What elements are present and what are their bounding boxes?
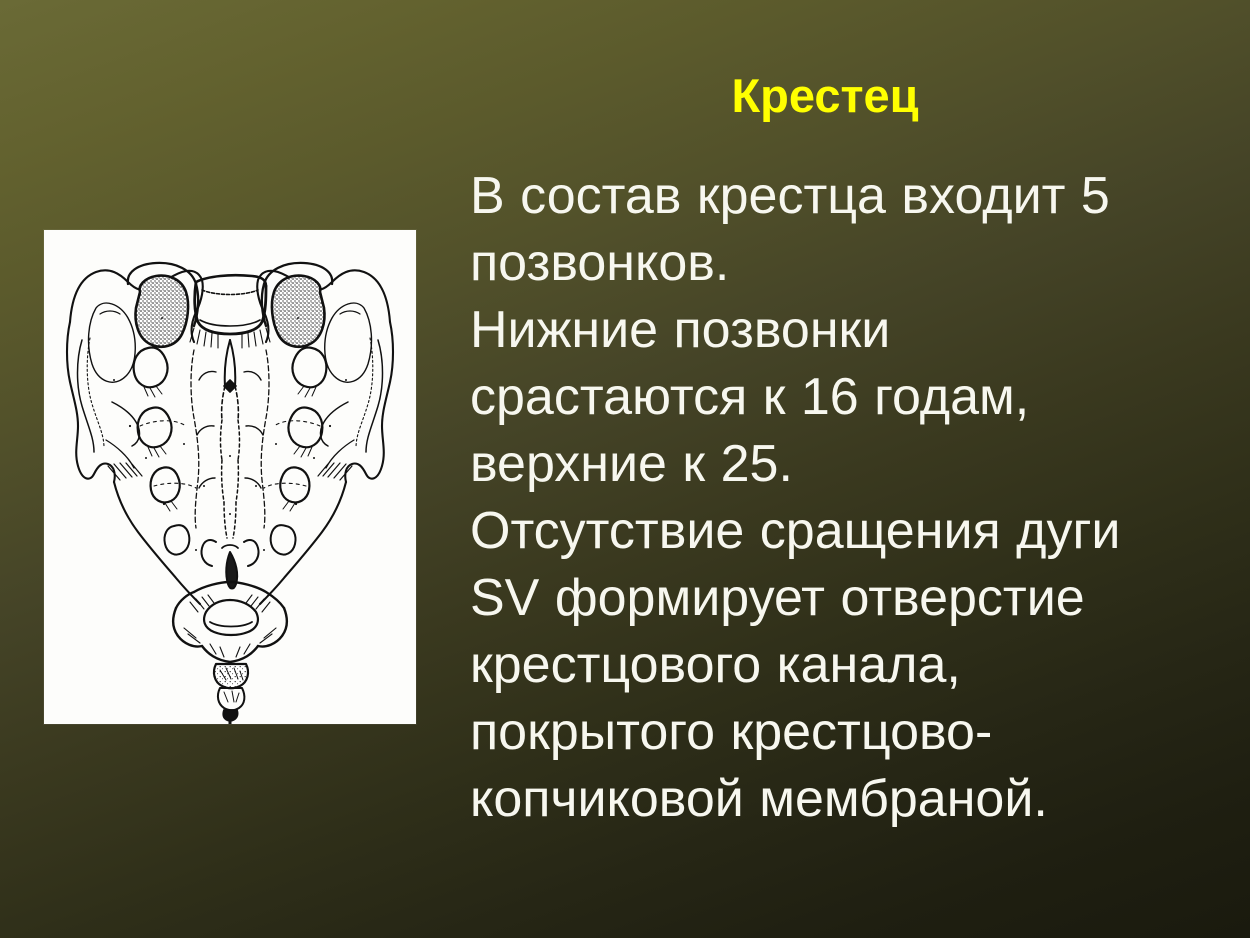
sacrum-illustration [44, 230, 416, 724]
page-title: Крестец [455, 68, 1195, 124]
paragraph-3: Отсутствие сращения дуги SV формирует от… [470, 498, 1182, 833]
presentation-slide: Крестец В состав крестца входит 5 позвон… [0, 0, 1250, 938]
sacrum-diagram-svg [44, 230, 416, 724]
body-text-block: В состав крестца входит 5 позвонков. Ниж… [470, 163, 1182, 833]
paragraph-2: Нижние позвонки срастаются к 16 годам, в… [470, 297, 1182, 498]
paragraph-1: В состав крестца входит 5 позвонков. [470, 163, 1182, 297]
